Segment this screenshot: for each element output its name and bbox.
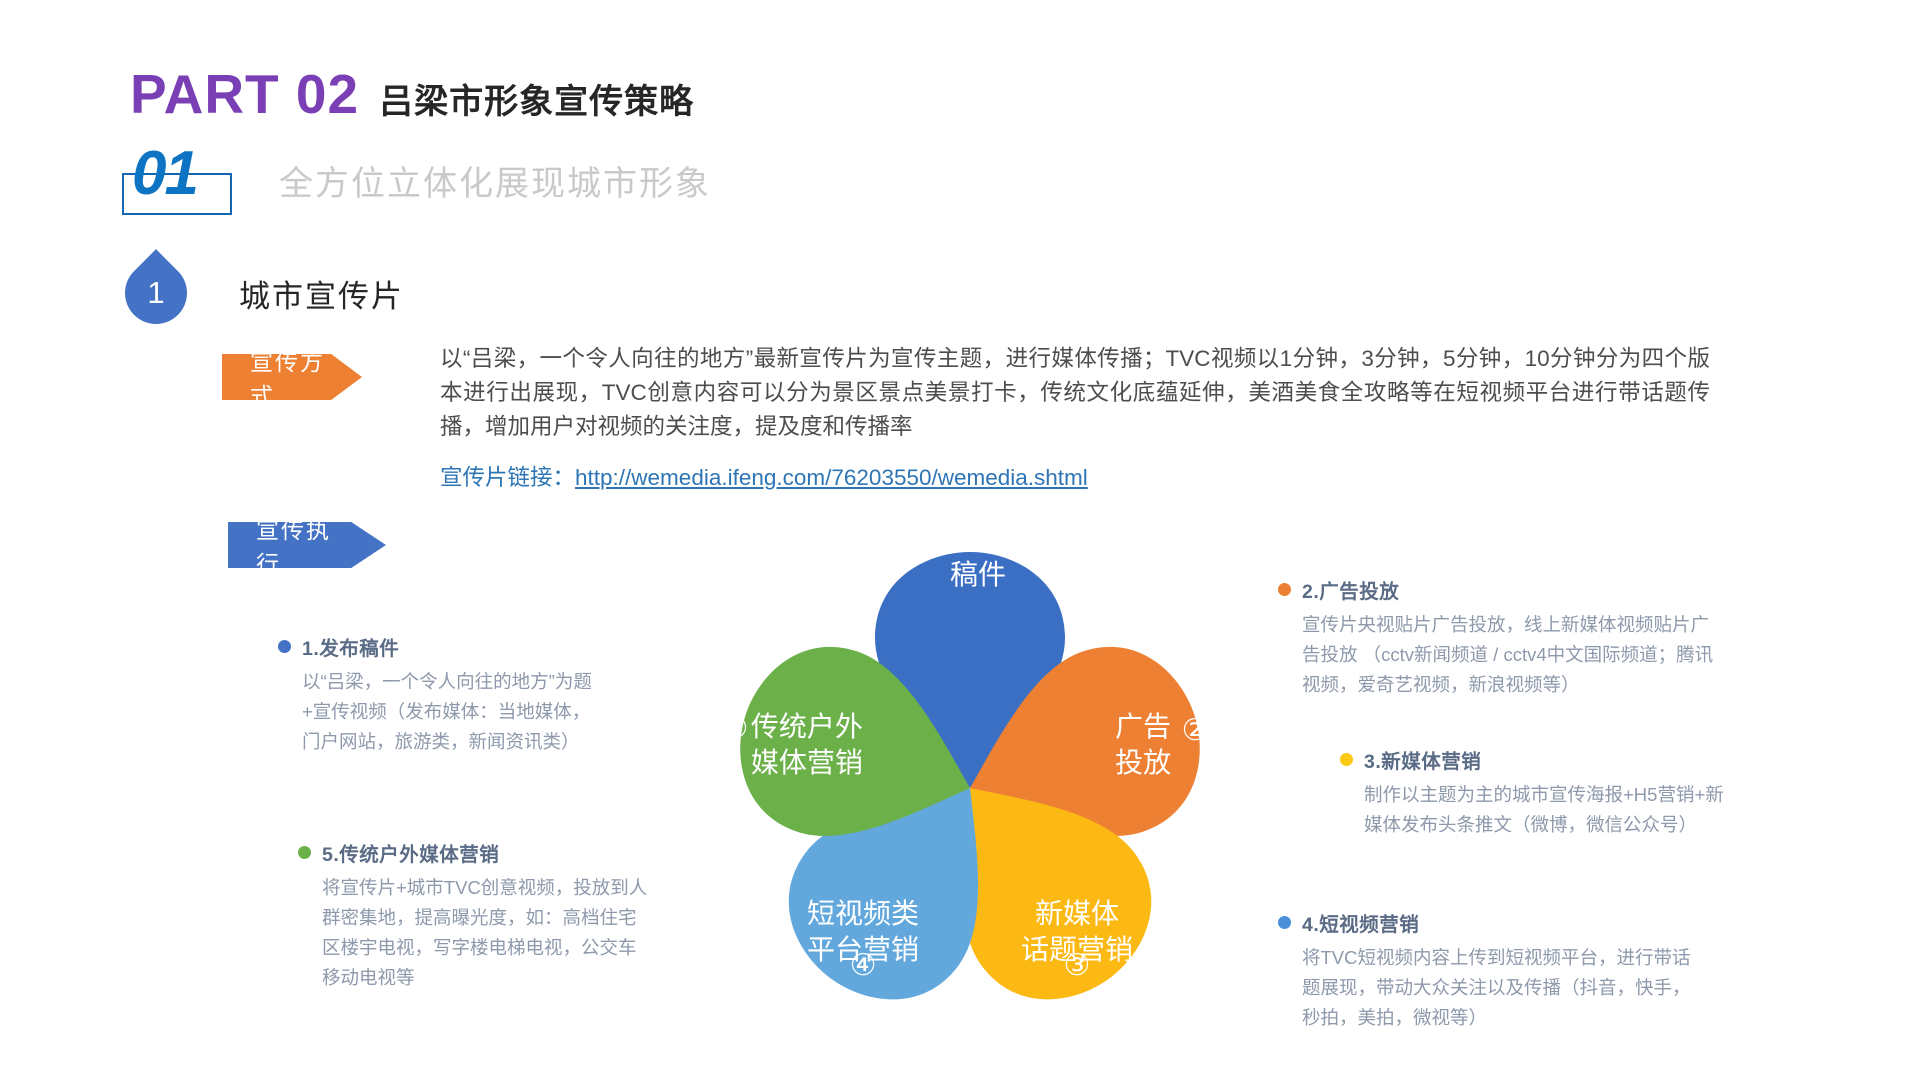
promo-video-link[interactable]: http://wemedia.ifeng.com/76203550/wemedi… [575, 465, 1088, 490]
section-heading: 01 全方位立体化展现城市形象 [122, 155, 711, 207]
bullet-item-5: 5.传统户外媒体营销 将宣传片+城市TVC创意视频，投放到人群密集地，提高曝光度… [298, 838, 648, 993]
part-title: PART 02 吕梁市形象宣传策略 [130, 62, 694, 126]
bullet-dot-icon [1278, 916, 1291, 929]
promo-link-row: 宣传片链接：http://wemedia.ifeng.com/76203550/… [440, 460, 1088, 492]
bullet-title: 3.新媒体营销 [1364, 745, 1481, 774]
bullet-item-3: 3.新媒体营销 制作以主题为主的城市宣传海报+H5营销+新媒体发布头条推文（微博… [1340, 745, 1740, 840]
petal-label-line: 发布 [950, 523, 1006, 554]
bullet-title: 1.发布稿件 [302, 632, 399, 661]
bullet-item-2: 2.广告投放 宣传片央视贴片广告投放，线上新媒体视频贴片广告投放 （cctv新闻… [1278, 575, 1718, 700]
item-header: 1 城市宣传片 [125, 262, 404, 324]
bullet-dot-icon [278, 640, 291, 653]
slide-canvas: PART 02 吕梁市形象宣传策略 01 全方位立体化展现城市形象 1 城市宣传… [0, 0, 1920, 1080]
flower-diagram: 发布稿件①广告投放②新媒体话题营销③短视频类平台营销④传统户外媒体营销⑤ [690, 520, 1250, 1050]
petal-number: ③ [1064, 948, 1091, 983]
bullet-item-1: 1.发布稿件 以“吕梁，一个令人向往的地方”为题+宣传视频（发布媒体：当地媒体，… [278, 632, 608, 757]
tag-execution: 宣传执行 [228, 522, 386, 568]
petal-label-line: 短视频类 [807, 898, 919, 929]
link-label: 宣传片链接： [440, 465, 575, 490]
bullet-title: 2.广告投放 [1302, 575, 1399, 604]
bullet-dot-icon [1278, 583, 1291, 596]
tag-method: 宣传方式 [222, 354, 362, 400]
petal-number: ④ [850, 948, 877, 983]
bullet-body: 将TVC短视频内容上传到短视频平台，进行带话题展现，带动大众关注以及传播（抖音，… [1302, 943, 1698, 1033]
part-label: PART 02 [130, 62, 359, 126]
bullet-dot-icon [1340, 753, 1353, 766]
bullet-header: 3.新媒体营销 [1340, 745, 1740, 774]
bullet-header: 2.广告投放 [1278, 575, 1718, 604]
petal-label-line: 广告 [1115, 711, 1171, 742]
bullet-body: 以“吕梁，一个令人向往的地方”为题+宣传视频（发布媒体：当地媒体，门户网站，旅游… [302, 667, 608, 757]
bullet-body: 制作以主题为主的城市宣传海报+H5营销+新媒体发布头条推文（微博，微信公众号） [1364, 780, 1740, 840]
petal-label-line: 投放 [1115, 747, 1171, 778]
item-title: 城市宣传片 [239, 271, 404, 316]
bullet-body: 宣传片央视贴片广告投放，线上新媒体视频贴片广告投放 （cctv新闻频道 / cc… [1302, 610, 1718, 700]
section-number-badge: 01 [122, 155, 237, 207]
body-paragraph: 以“吕梁，一个令人向往的地方”最新宣传片为宣传主题，进行媒体传播；TVC视频以1… [440, 342, 1710, 444]
bullet-header: 4.短视频营销 [1278, 908, 1698, 937]
bullet-title: 5.传统户外媒体营销 [322, 838, 499, 867]
bullet-title: 4.短视频营销 [1302, 908, 1419, 937]
petal-label-line: 传统户外 [751, 711, 863, 742]
petal-label-line: 稿件 [950, 559, 1006, 590]
petal-label-line: 新媒体 [1035, 898, 1119, 929]
petal-number: ② [1182, 713, 1209, 748]
bullet-item-4: 4.短视频营销 将TVC短视频内容上传到短视频平台，进行带话题展现，带动大众关注… [1278, 908, 1698, 1033]
item-number-label: 1 [125, 262, 187, 324]
bullet-header: 1.发布稿件 [278, 632, 608, 661]
section-title: 全方位立体化展现城市形象 [279, 156, 711, 207]
part-subtitle: 吕梁市形象宣传策略 [379, 74, 694, 123]
petal-label-line: 媒体营销 [751, 747, 863, 778]
bullet-dot-icon [298, 846, 311, 859]
bullet-header: 5.传统户外媒体营销 [298, 838, 648, 867]
item-number-badge: 1 [125, 262, 197, 324]
bullet-body: 将宣传片+城市TVC创意视频，投放到人群密集地，提高曝光度，如：高档住宅区楼宇电… [322, 873, 648, 993]
section-number: 01 [132, 143, 197, 205]
petal-number: ⑤ [721, 711, 748, 746]
